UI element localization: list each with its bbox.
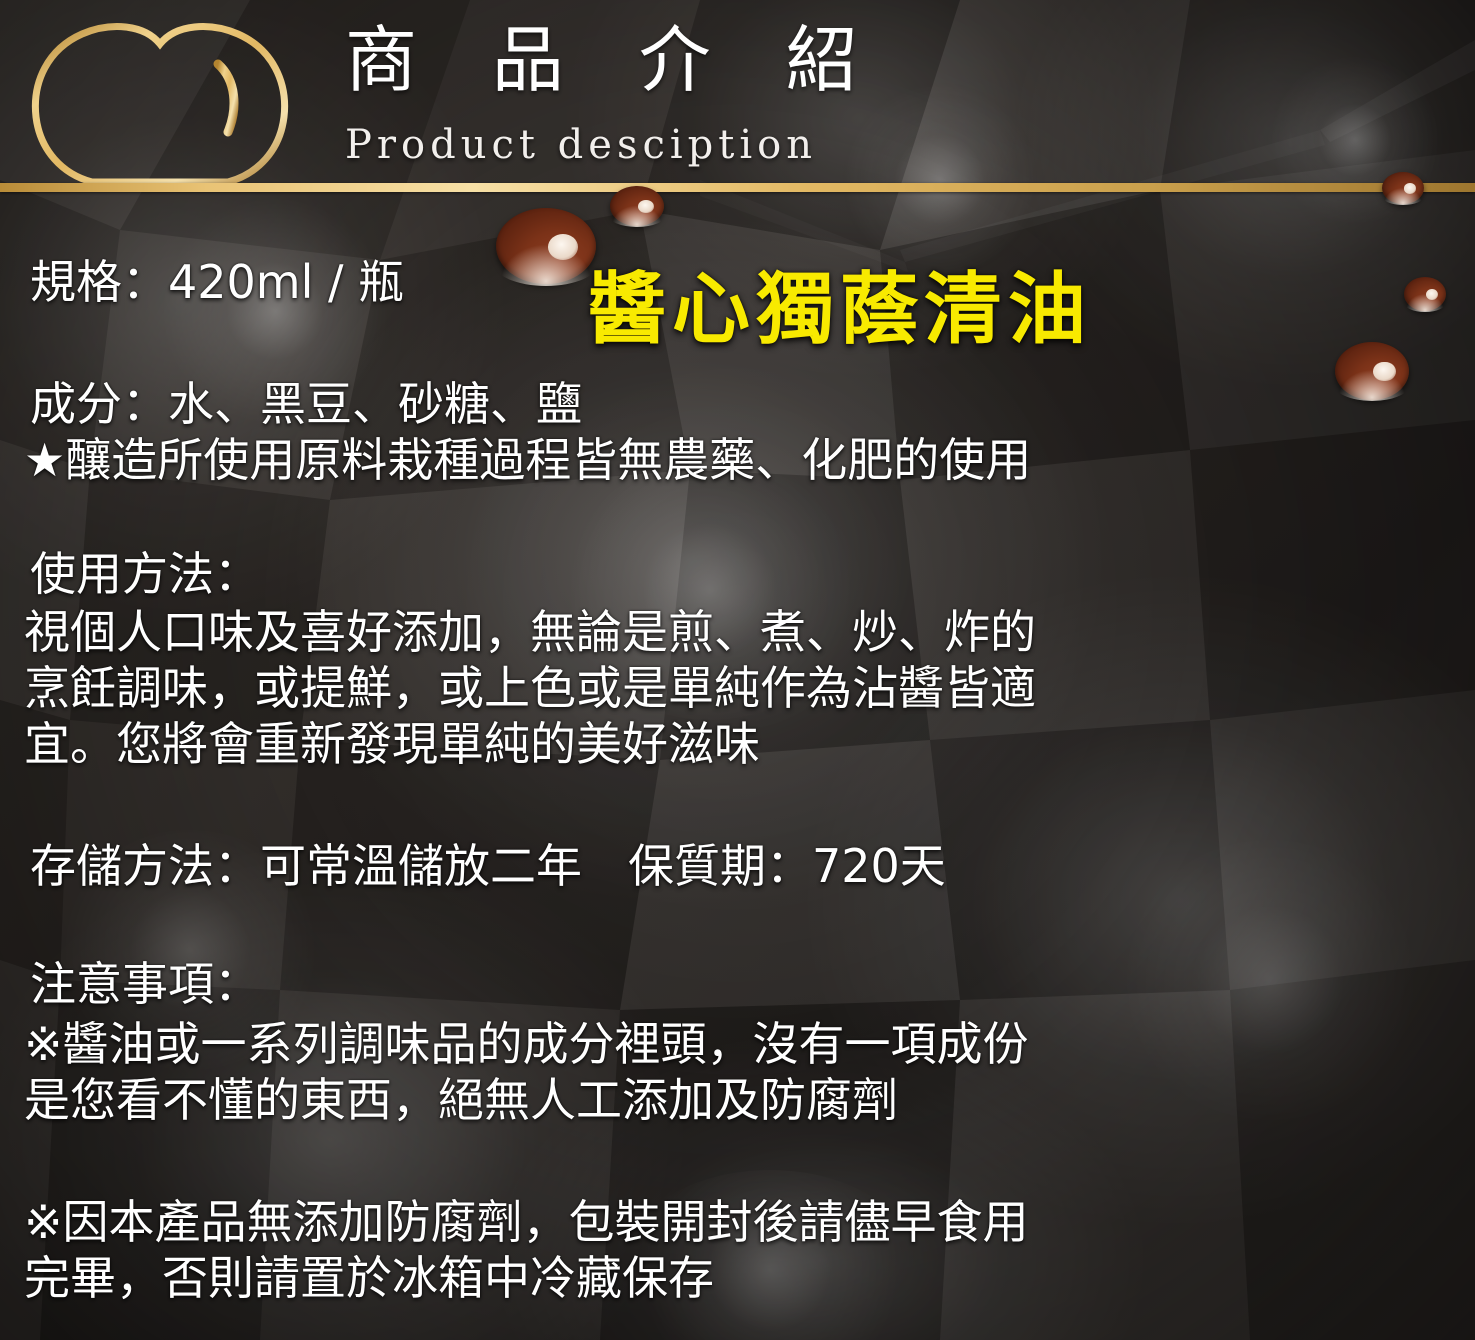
- notes-item-1-line-1: ※醬油或一系列調味品的成分裡頭，沒有一項成份: [24, 1016, 1029, 1072]
- product-name: 醬心獨蔭清油: [588, 247, 1092, 359]
- soy-sauce-droplet: [496, 208, 596, 284]
- notes-item-2-line-2: 完畢，否則請置於冰箱中冷藏保存: [24, 1250, 714, 1306]
- usage-line-3: 宜。您將會重新發現單純的美好滋味: [24, 716, 760, 772]
- usage-line-1: 視個人口味及喜好添加，無論是煎、煮、炒、炸的: [24, 604, 1036, 660]
- page-subtitle: Product desciption: [345, 122, 817, 168]
- notes-heading: 注意事項：: [30, 956, 260, 1012]
- notes-item-2-line-1: ※因本產品無添加防腐劑，包裝開封後請儘早食用: [24, 1194, 1029, 1250]
- soy-sauce-droplet: [610, 186, 664, 226]
- product-description-banner: 商 品 介 紹 Product desciption 規格：420ml / 瓶 …: [0, 0, 1475, 1340]
- ingredients-line: 成分：水、黑豆、砂糖、鹽: [30, 376, 582, 432]
- soy-sauce-droplet: [1382, 172, 1424, 204]
- notes-item-1-line-2: 是您看不懂的東西，絕無人工添加及防腐劑: [24, 1072, 898, 1128]
- soy-sauce-droplet: [1404, 277, 1446, 311]
- usage-heading: 使用方法：: [30, 546, 260, 602]
- soy-sauce-droplet: [1335, 342, 1409, 400]
- page-title: 商 品 介 紹: [345, 22, 884, 100]
- usage-line-2: 烹飪調味，或提鮮，或上色或是單純作為沾醬皆適: [24, 660, 1036, 716]
- soybean-heart-outline-logo: [22, 22, 298, 194]
- header: 商 品 介 紹 Product desciption: [0, 0, 1475, 196]
- storage-line: 存儲方法：可常溫儲放二年 保質期：720天: [30, 838, 946, 894]
- spec-line: 規格：420ml / 瓶: [30, 254, 404, 310]
- ingredients-note: ★釀造所使用原料栽種過程皆無農藥、化肥的使用: [24, 432, 1031, 488]
- gold-divider: [0, 183, 1475, 192]
